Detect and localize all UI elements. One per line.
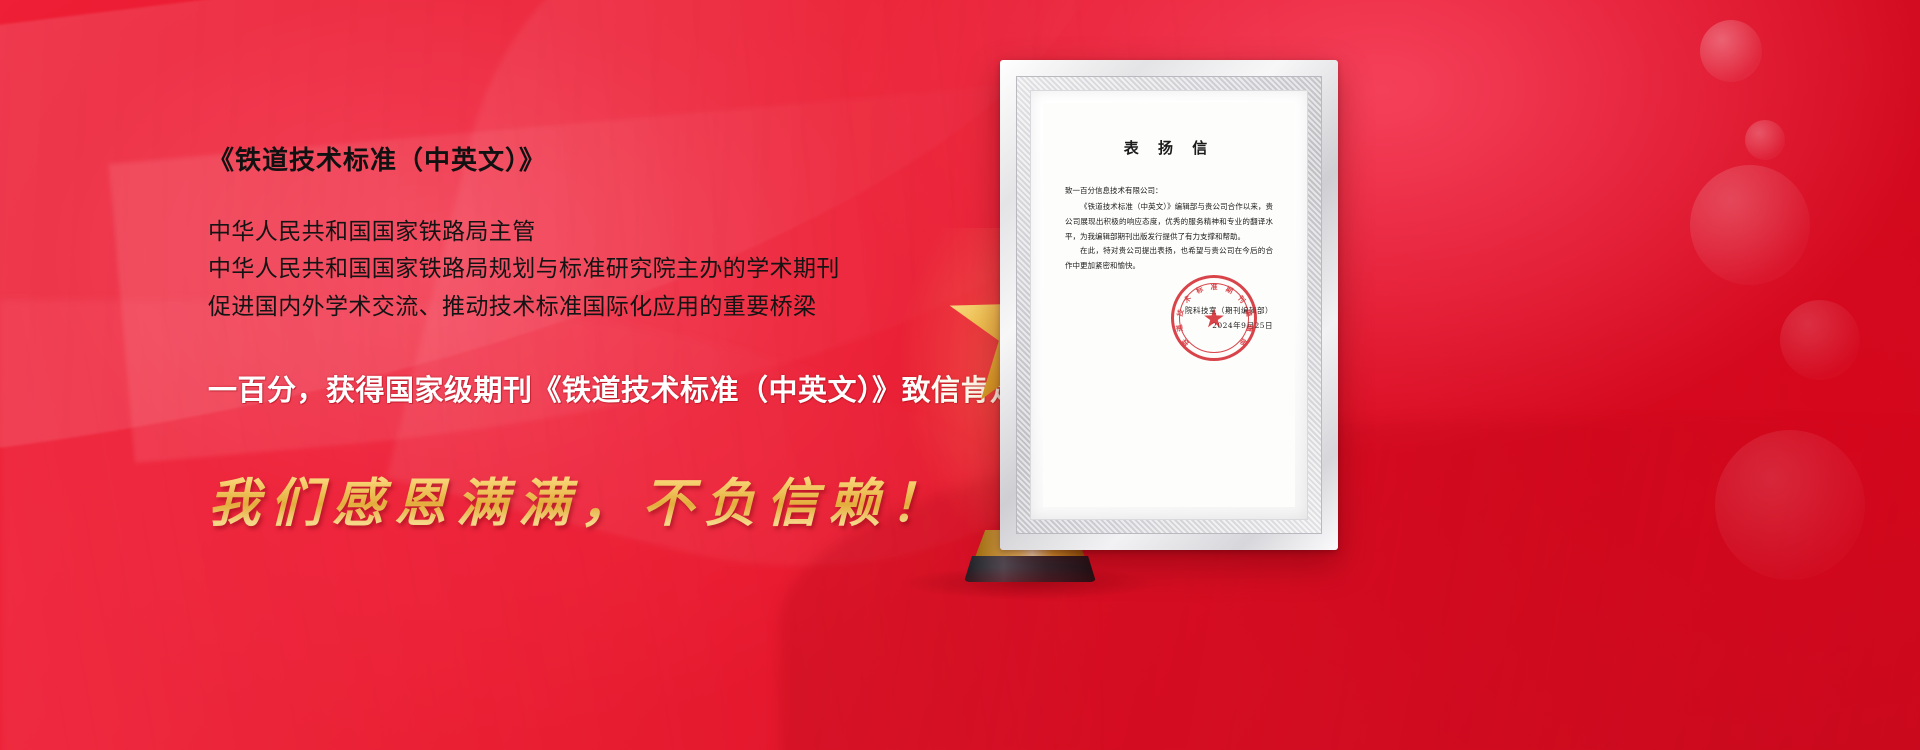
decorative-bubble [1745, 120, 1785, 160]
red-seal-stamp: 铁道技术标准期刊编辑部 [1171, 275, 1257, 361]
decorative-bubble [1700, 20, 1762, 82]
seal-character: 编 [1242, 309, 1253, 318]
promo-banner: 《铁道技术标准（中英文）》 中华人民共和国国家铁路局主管 中华人民共和国国家铁路… [0, 0, 1920, 750]
decorative-bubble [1690, 165, 1810, 285]
certificate-title: 表 扬 信 [1065, 137, 1273, 158]
certificate-signature-block: 铁道技术标准期刊编辑部 院科技室（期刊编辑部） 2024年9月25日 [1065, 303, 1273, 333]
seal-character: 准 [1211, 282, 1218, 292]
journal-title: 《铁道技术标准（中英文）》 [208, 140, 998, 177]
certificate-salutation: 致一百分信息技术有限公司： [1065, 184, 1273, 198]
banner-calligraphy-slogan: 我们感恩满满，不负信赖！ [208, 461, 998, 536]
certificate-paper: 表 扬 信 致一百分信息技术有限公司： 《铁道技术标准（中英文）》编辑部与贵公司… [1043, 103, 1295, 507]
banner-text-column: 《铁道技术标准（中英文）》 中华人民共和国国家铁路局主管 中华人民共和国国家铁路… [208, 140, 998, 536]
banner-body-line-2: 中华人民共和国国家铁路局规划与标准研究院主办的学术期刊 [208, 250, 998, 287]
seal-character: 技 [1174, 309, 1185, 318]
decorative-bubble [1715, 430, 1865, 580]
seal-character: 部 [1237, 337, 1249, 348]
certificate-frame: 表 扬 信 致一百分信息技术有限公司： 《铁道技术标准（中英文）》编辑部与贵公司… [1000, 60, 1338, 550]
certificate-paragraph-1: 《铁道技术标准（中英文）》编辑部与贵公司合作以来，贵公司展现出积极的响应态度，优… [1065, 200, 1273, 244]
certificate-paragraph-2: 在此，特对贵公司提出表扬，也希望与贵公司在今后的合作中更加紧密和愉快。 [1065, 244, 1273, 273]
banner-body-line-1: 中华人民共和国国家铁路局主管 [208, 213, 998, 250]
trophy-shadow [900, 566, 1160, 600]
seal-character: 铁 [1179, 337, 1191, 348]
commendation-letter-certificate: 表 扬 信 致一百分信息技术有限公司： 《铁道技术标准（中英文）》编辑部与贵公司… [1000, 60, 1338, 550]
banner-body-line-3: 促进国内外学术交流、推动技术标准国际化应用的重要桥梁 [208, 288, 998, 325]
banner-headline: 一百分，获得国家级期刊《铁道技术标准（中英文）》致信肯定! [208, 367, 998, 409]
decorative-bubble [1780, 300, 1860, 380]
certificate-mat: 表 扬 信 致一百分信息技术有限公司： 《铁道技术标准（中英文）》编辑部与贵公司… [1030, 90, 1308, 520]
